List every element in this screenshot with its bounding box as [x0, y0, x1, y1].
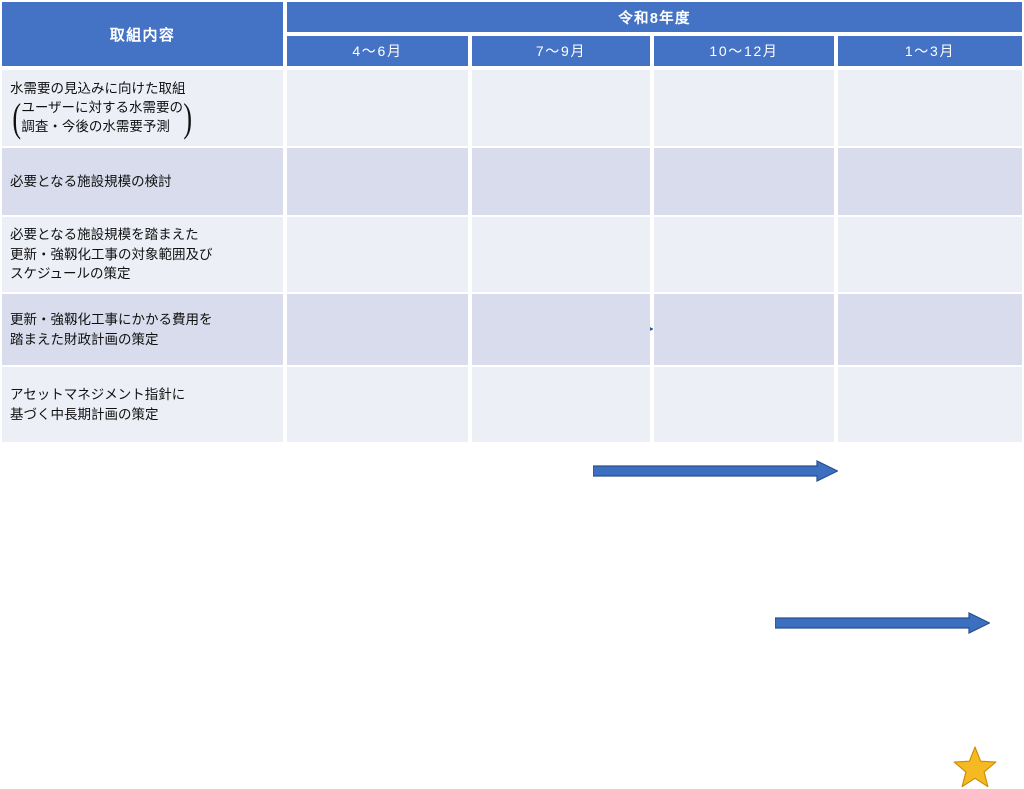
- cell-row4-q3: [654, 294, 834, 365]
- task-label-3-line1: 必要となる施設規模を踏まえた: [10, 225, 283, 245]
- cell-row5-q1: [287, 367, 468, 442]
- task-label-5-line1: アセットマネジメント指針に: [10, 385, 283, 405]
- task-label-2-title: 必要となる施設規模の検討: [10, 172, 283, 192]
- task-label-4: 更新・強靱化工事にかかる費用を 踏まえた財政計画の策定: [2, 294, 283, 365]
- cell-row3-q2: [472, 217, 650, 292]
- cell-row3-q1: [287, 217, 468, 292]
- cell-row2-q2: [472, 148, 650, 215]
- table-row: 水需要の見込みに向けた取組 ( ユーザーに対する水需要の 調査・今後の水需要予測…: [0, 70, 1024, 146]
- table-header: 取組内容 令和8年度 4～6月 7～9月 10～12月 1～3月: [0, 0, 1024, 68]
- bracket-left-icon: (: [12, 104, 21, 133]
- cell-row1-q4: [838, 70, 1022, 146]
- year-header: 令和8年度: [287, 2, 1022, 32]
- cell-row5-q4: [838, 367, 1022, 442]
- task-label-4-line2: 踏まえた財政計画の策定: [10, 330, 283, 350]
- gantt-arrow-row3: [593, 460, 838, 482]
- task-label-1: 水需要の見込みに向けた取組 ( ユーザーに対する水需要の 調査・今後の水需要予測…: [2, 70, 283, 146]
- cell-row2-q3: [654, 148, 834, 215]
- task-label-5-line2: 基づく中長期計画の策定: [10, 405, 283, 425]
- task-label-3: 必要となる施設規模を踏まえた 更新・強靱化工事の対象範囲及び スケジュールの策定: [2, 217, 283, 292]
- table-row: 必要となる施設規模の検討: [0, 148, 1024, 215]
- task-label-1-subgroup: ( ユーザーに対する水需要の 調査・今後の水需要予測 ): [10, 99, 283, 137]
- cell-row3-q3: [654, 217, 834, 292]
- gantt-chart: 取組内容 令和8年度 4～6月 7～9月 10～12月 1～3月 水需要の見込み…: [0, 0, 1024, 444]
- cell-row4-q1: [287, 294, 468, 365]
- task-label-1-title: 水需要の見込みに向けた取組: [10, 79, 283, 99]
- cell-row3-q4: [838, 217, 1022, 292]
- cell-row4-q2: [472, 294, 650, 365]
- milestone-star-icon: [953, 745, 997, 789]
- table-row: アセットマネジメント指針に 基づく中長期計画の策定: [0, 367, 1024, 442]
- cell-row5-q3: [654, 367, 834, 442]
- quarter-header-q4: 1～3月: [838, 36, 1022, 66]
- table-row: 必要となる施設規模を踏まえた 更新・強靱化工事の対象範囲及び スケジュールの策定: [0, 217, 1024, 292]
- task-label-1-sub2: 調査・今後の水需要予測: [21, 118, 183, 137]
- gantt-arrow-row4: [775, 612, 990, 634]
- quarter-header-q2: 7～9月: [472, 36, 650, 66]
- cell-row1-q1: [287, 70, 468, 146]
- cell-row2-q4: [838, 148, 1022, 215]
- task-label-4-line1: 更新・強靱化工事にかかる費用を: [10, 310, 283, 330]
- table-row: 更新・強靱化工事にかかる費用を 踏まえた財政計画の策定: [0, 294, 1024, 365]
- cell-row1-q2: [472, 70, 650, 146]
- cell-row5-q2: [472, 367, 650, 442]
- task-label-3-line3: スケジュールの策定: [10, 264, 283, 284]
- task-label-1-sub1: ユーザーに対する水需要の: [21, 99, 183, 118]
- cell-row4-q4: [838, 294, 1022, 365]
- quarter-header-q1: 4～6月: [287, 36, 468, 66]
- cell-row2-q1: [287, 148, 468, 215]
- task-label-2: 必要となる施設規模の検討: [2, 148, 283, 215]
- task-label-5: アセットマネジメント指針に 基づく中長期計画の策定: [2, 367, 283, 442]
- quarter-header-q3: 10～12月: [654, 36, 834, 66]
- task-column-header: 取組内容: [2, 2, 283, 66]
- task-label-3-line2: 更新・強靱化工事の対象範囲及び: [10, 245, 283, 265]
- bracket-right-icon: ): [183, 104, 192, 133]
- cell-row1-q3: [654, 70, 834, 146]
